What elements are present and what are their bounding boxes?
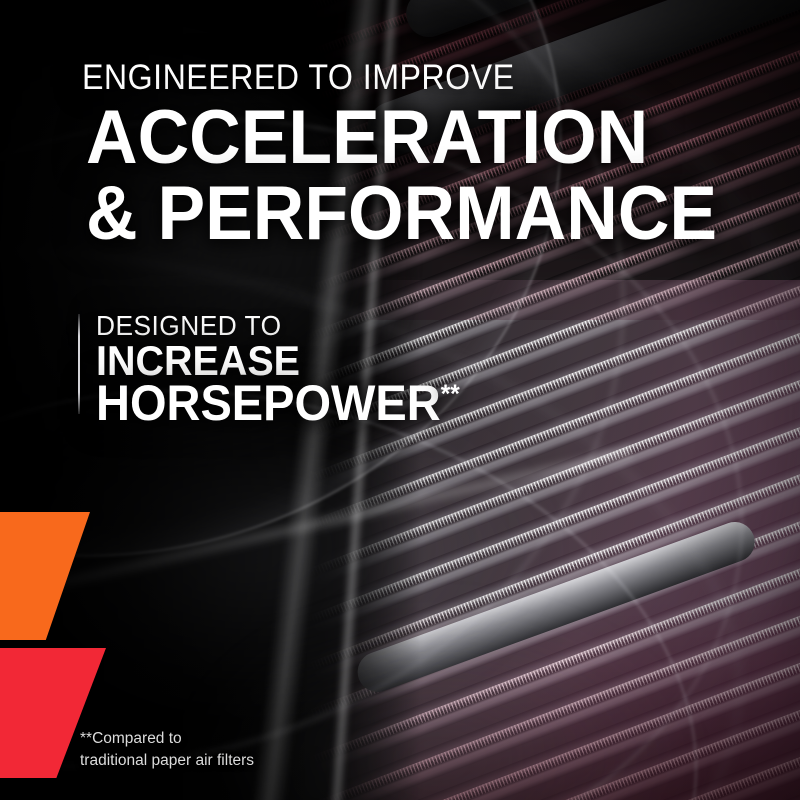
headline-kicker: ENGINEERED TO IMPROVE [82, 58, 515, 98]
subhead-footnote-marker: ** [441, 378, 460, 408]
subhead-divider-bar [78, 314, 80, 414]
headline-line-1: ACCELERATION [86, 100, 648, 176]
footnote-text: **Compared to traditional paper air filt… [80, 728, 254, 773]
subhead-line-2-text: HORSEPOWER [96, 375, 441, 431]
subhead-line-2: HORSEPOWER** [96, 378, 460, 428]
text-layer: ENGINEERED TO IMPROVE ACCELERATION & PER… [0, 0, 800, 800]
headline-line-2: & PERFORMANCE [86, 176, 717, 252]
marketing-banner: ENGINEERED TO IMPROVE ACCELERATION & PER… [0, 0, 800, 800]
